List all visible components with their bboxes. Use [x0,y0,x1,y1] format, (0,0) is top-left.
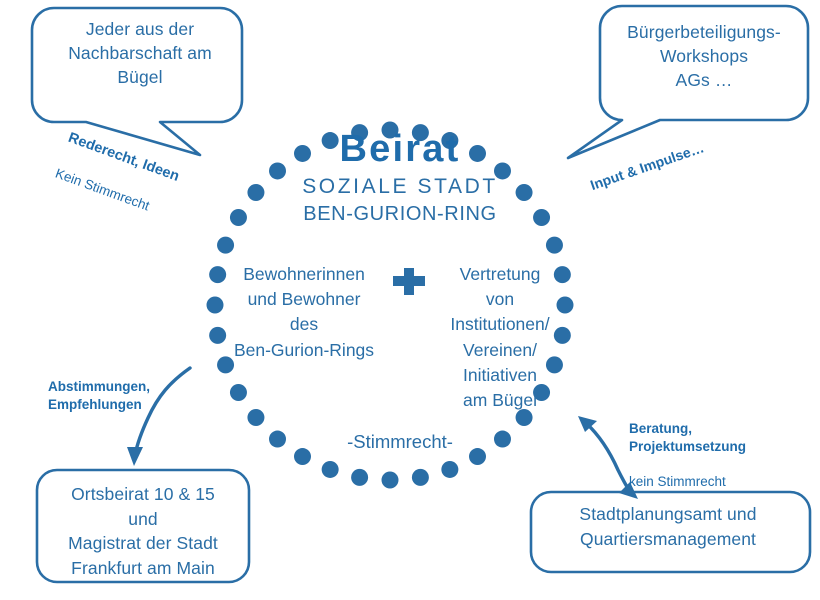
center-heading: Beirat [260,128,540,171]
connector-label-abstimmungen: Abstimmungen, Empfehlungen [48,360,188,431]
bubble-workshops-label: Bürgerbeteiligungs- Workshops AGs … [606,21,802,92]
ring-dot [441,461,458,478]
ring-dot [351,469,368,486]
connector-label-beratung-note: kein Stimmrecht [629,473,789,491]
ring-dot [322,461,339,478]
diagram-canvas: Jeder aus der Nachbarschaft am Bügel Bür… [0,0,820,600]
ring-dot [412,469,429,486]
connector-label-beratung-bold: Beratung, Projektumsetzung [629,420,789,456]
center-subheading-2: BEN-GURION-RING [250,203,550,226]
connector-label-input-bold: Input & Impulse… [588,125,745,195]
center-column-residents: Bewohnerinnen und Bewohner des Ben-Gurio… [218,262,390,363]
connector-label-rederecht: Rederecht, Ideen Kein Stimmrecht [46,112,219,250]
ring-dot [230,384,247,401]
center-voting-note: -Stimmrecht- [325,431,475,453]
connector-label-abstimmungen-bold: Abstimmungen, Empfehlungen [48,378,188,414]
ring-dot [230,209,247,226]
center-subheading-1: SOZIALE STADT [260,175,540,199]
ring-dot [247,409,264,426]
ring-dot [494,431,511,448]
ring-dot [294,448,311,465]
connector-label-beratung: Beratung, Projektumsetzung kein Stimmrec… [629,402,789,509]
box-stadtplanungsamt-label: Stadtplanungsamt und Quartiersmanagement [534,502,802,551]
bubble-neighbourhood-label: Jeder aus der Nachbarschaft am Bügel [40,18,240,89]
plus-icon [393,268,425,295]
box-ortsbeirat-label: Ortsbeirat 10 & 15 und Magistrat der Sta… [42,482,244,580]
center-column-institutions: Vertretung von Institutionen/ Vereinen/ … [424,262,576,413]
ring-dot [546,237,563,254]
ring-dot [382,472,399,489]
connector-label-input: Input & Impulse… [582,108,751,212]
ring-dot [269,431,286,448]
ring-dot [217,237,234,254]
